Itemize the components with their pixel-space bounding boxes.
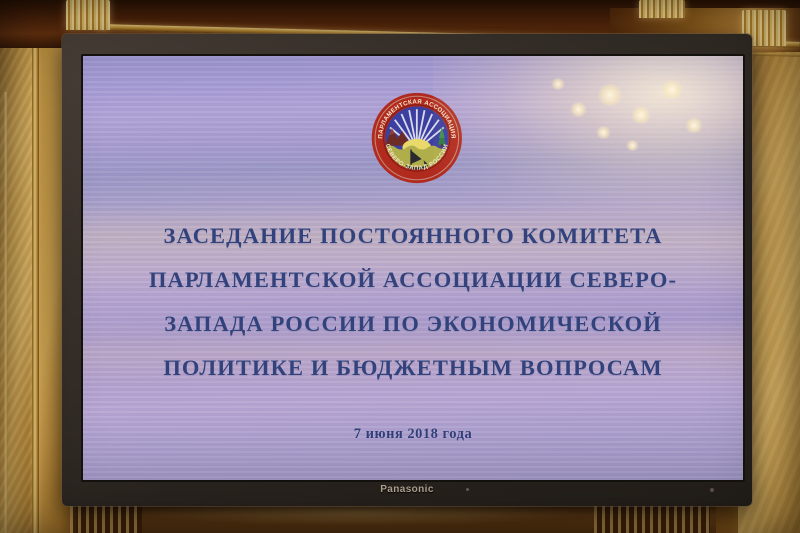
slide-title: ЗАСЕДАНИЕ ПОСТОЯННОГО КОМИТЕТА ПАРЛАМЕНТ… bbox=[83, 214, 743, 390]
glare-bokeh-4 bbox=[661, 80, 683, 99]
screen-glare bbox=[433, 56, 743, 216]
glare-bokeh-8 bbox=[626, 140, 639, 151]
glare-bokeh-1 bbox=[597, 84, 623, 106]
display-brand-label: Panasonic bbox=[62, 484, 752, 495]
slide-title-line-4: ПОЛИТИКЕ И БЮДЖЕТНЫМ ВОПРОСАМ bbox=[83, 346, 743, 390]
slide-date: 7 июня 2018 года bbox=[83, 426, 743, 443]
credenza-highlight bbox=[140, 504, 580, 526]
column-capital-left bbox=[66, 0, 110, 30]
ir-sensor-icon bbox=[710, 488, 714, 492]
plasma-display[interactable]: ПАРЛАМЕНТСКАЯ АССОЦИАЦИЯ СЕВЕРО-ЗАПАД РО… bbox=[62, 34, 752, 506]
emblem-seal-icon: ПАРЛАМЕНТСКАЯ АССОЦИАЦИЯ СЕВЕРО-ЗАПАД РО… bbox=[369, 90, 465, 186]
glare-bokeh-2 bbox=[631, 106, 651, 124]
display-bezel-inner: ПАРЛАМЕНТСКАЯ АССОЦИАЦИЯ СЕВЕРО-ЗАПАД РО… bbox=[81, 54, 745, 482]
glare-bokeh-3 bbox=[570, 102, 587, 117]
power-led-icon bbox=[466, 488, 469, 491]
presentation-slide: ПАРЛАМЕНТСКАЯ АССОЦИАЦИЯ СЕВЕРО-ЗАПАД РО… bbox=[83, 56, 743, 480]
wall-panel-left-inner-trim bbox=[4, 92, 8, 533]
slide-title-line-3: ЗАПАДА РОССИИ ПО ЭКОНОМИЧЕСКОЙ bbox=[83, 302, 743, 346]
glare-bokeh-5 bbox=[596, 126, 611, 139]
glare-bokeh-7 bbox=[551, 78, 565, 90]
slide-title-line-1: ЗАСЕДАНИЕ ПОСТОЯННОГО КОМИТЕТА bbox=[83, 214, 743, 258]
wall-panel-left bbox=[0, 40, 34, 533]
column-capital-center-right bbox=[639, 0, 685, 18]
glare-bokeh-6 bbox=[685, 118, 703, 133]
room-scene: ПАРЛАМЕНТСКАЯ АССОЦИАЦИЯ СЕВЕРО-ЗАПАД РО… bbox=[0, 0, 800, 533]
wall-panel-left-gold-trim bbox=[32, 36, 39, 533]
slide-title-line-2: ПАРЛАМЕНТСКОЙ АССОЦИАЦИИ СЕВЕРО- bbox=[83, 258, 743, 302]
emblem: ПАРЛАМЕНТСКАЯ АССОЦИАЦИЯ СЕВЕРО-ЗАПАД РО… bbox=[369, 90, 465, 186]
